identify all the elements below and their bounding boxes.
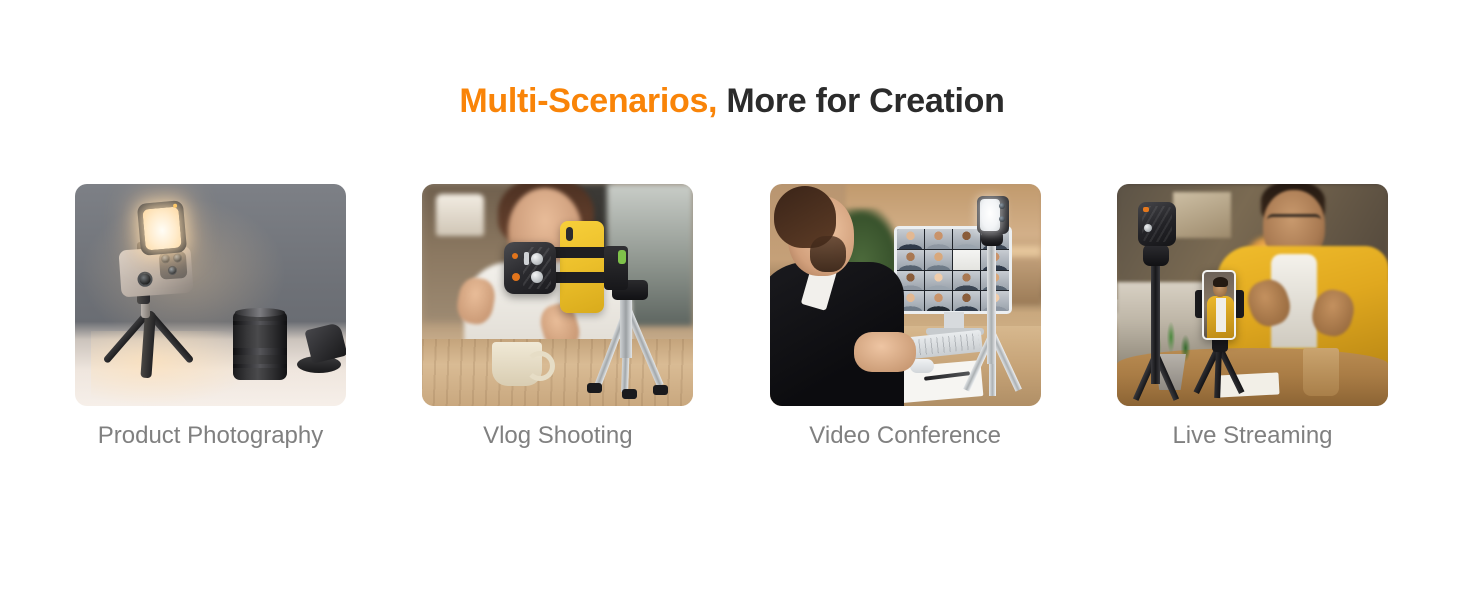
light-stand-ball-head: [1143, 244, 1169, 266]
smartphone-object: [1202, 270, 1236, 340]
led-orange-button: [512, 273, 520, 281]
scenario-card-video-conference[interactable]: Video Conference: [770, 184, 1041, 452]
led-light-emitting-face: [142, 207, 181, 251]
tripod-center-column: [620, 296, 632, 358]
call-participant-tile: [925, 250, 952, 270]
tripod-foot: [653, 385, 668, 395]
background-picture-frame: [1173, 192, 1231, 238]
scenario-card-live-streaming[interactable]: Live Streaming: [1117, 184, 1388, 452]
led-orange-button: [512, 253, 518, 259]
notepad-object: [1216, 372, 1279, 397]
led-light-panel: [137, 200, 187, 256]
live-streaming-image: [1117, 184, 1388, 406]
scenario-card-vlog-shooting[interactable]: Vlog Shooting: [422, 184, 693, 452]
headline-plain: More for Creation: [717, 82, 1004, 120]
scenario-caption: Live Streaming: [1117, 420, 1388, 452]
led-light-module: [504, 242, 556, 294]
headline-accent: Multi-Scenarios,: [459, 82, 717, 120]
tripod-foot: [622, 389, 637, 399]
lens-hood-object: [304, 322, 346, 364]
led-usb-port: [524, 252, 529, 265]
led-light-emitting-face: [980, 199, 1000, 231]
page-title: Multi-Scenarios, More for Creation: [0, 78, 1464, 124]
call-participant-tile: [925, 291, 952, 311]
phone-main-camera: [137, 271, 153, 287]
participant-beard: [810, 236, 846, 272]
yellow-smartphone-object: [560, 221, 604, 313]
call-participant-tile: [925, 271, 952, 291]
participant-hands: [854, 332, 916, 372]
led-indicator-dot: [173, 204, 177, 208]
led-light-panel: [977, 196, 1009, 234]
vlog-shooting-image: [422, 184, 693, 406]
bubble-level-indicator: [618, 250, 626, 264]
lens-ring: [233, 364, 287, 368]
call-participant-tile: [953, 291, 980, 311]
video-conference-image: [770, 184, 1041, 406]
lens-ring: [233, 321, 287, 325]
lens-front-element: [235, 308, 285, 317]
call-participant-tile: [953, 271, 980, 291]
call-participant-tile: [953, 229, 980, 249]
background-lamp: [436, 194, 484, 236]
call-participant-tile: [953, 250, 980, 270]
camera-lens-dot: [173, 253, 183, 263]
tripod-pole: [987, 242, 996, 364]
tripod-foot: [587, 383, 602, 393]
scenario-card-grid: Product Photography: [75, 184, 1388, 452]
led-control-knob: [1144, 224, 1152, 232]
phone-camera-cluster: [159, 251, 188, 280]
call-participant-tile: [897, 229, 924, 249]
preview-streamer-hair: [1213, 277, 1228, 287]
scenario-caption: Vlog Shooting: [422, 420, 693, 452]
led-orange-button: [1143, 207, 1149, 212]
scenario-caption: Video Conference: [770, 420, 1041, 452]
scenario-caption: Product Photography: [75, 420, 346, 452]
call-participant-tile: [897, 250, 924, 270]
led-dial: [999, 216, 1005, 222]
streamer-glasses: [1267, 214, 1321, 226]
product-photography-image: [75, 184, 346, 406]
lens-ring: [233, 348, 287, 355]
phone-notch: [566, 227, 573, 241]
light-stand-pole: [1151, 262, 1160, 384]
preview-streamer-tshirt: [1216, 298, 1226, 332]
scenario-card-product-photography[interactable]: Product Photography: [75, 184, 346, 452]
phone-preview-screen: [1204, 272, 1234, 338]
call-participant-tile: [925, 229, 952, 249]
coffee-mug-object: [492, 342, 542, 386]
led-light-module: [1138, 202, 1176, 246]
camera-lens-dot: [168, 266, 178, 276]
paper-cup-object: [1303, 348, 1339, 396]
camera-lens-object: [233, 312, 287, 380]
promo-banner: Multi-Scenarios, More for Creation: [0, 0, 1464, 600]
camera-lens-dot: [161, 254, 171, 264]
led-dial: [999, 203, 1005, 209]
